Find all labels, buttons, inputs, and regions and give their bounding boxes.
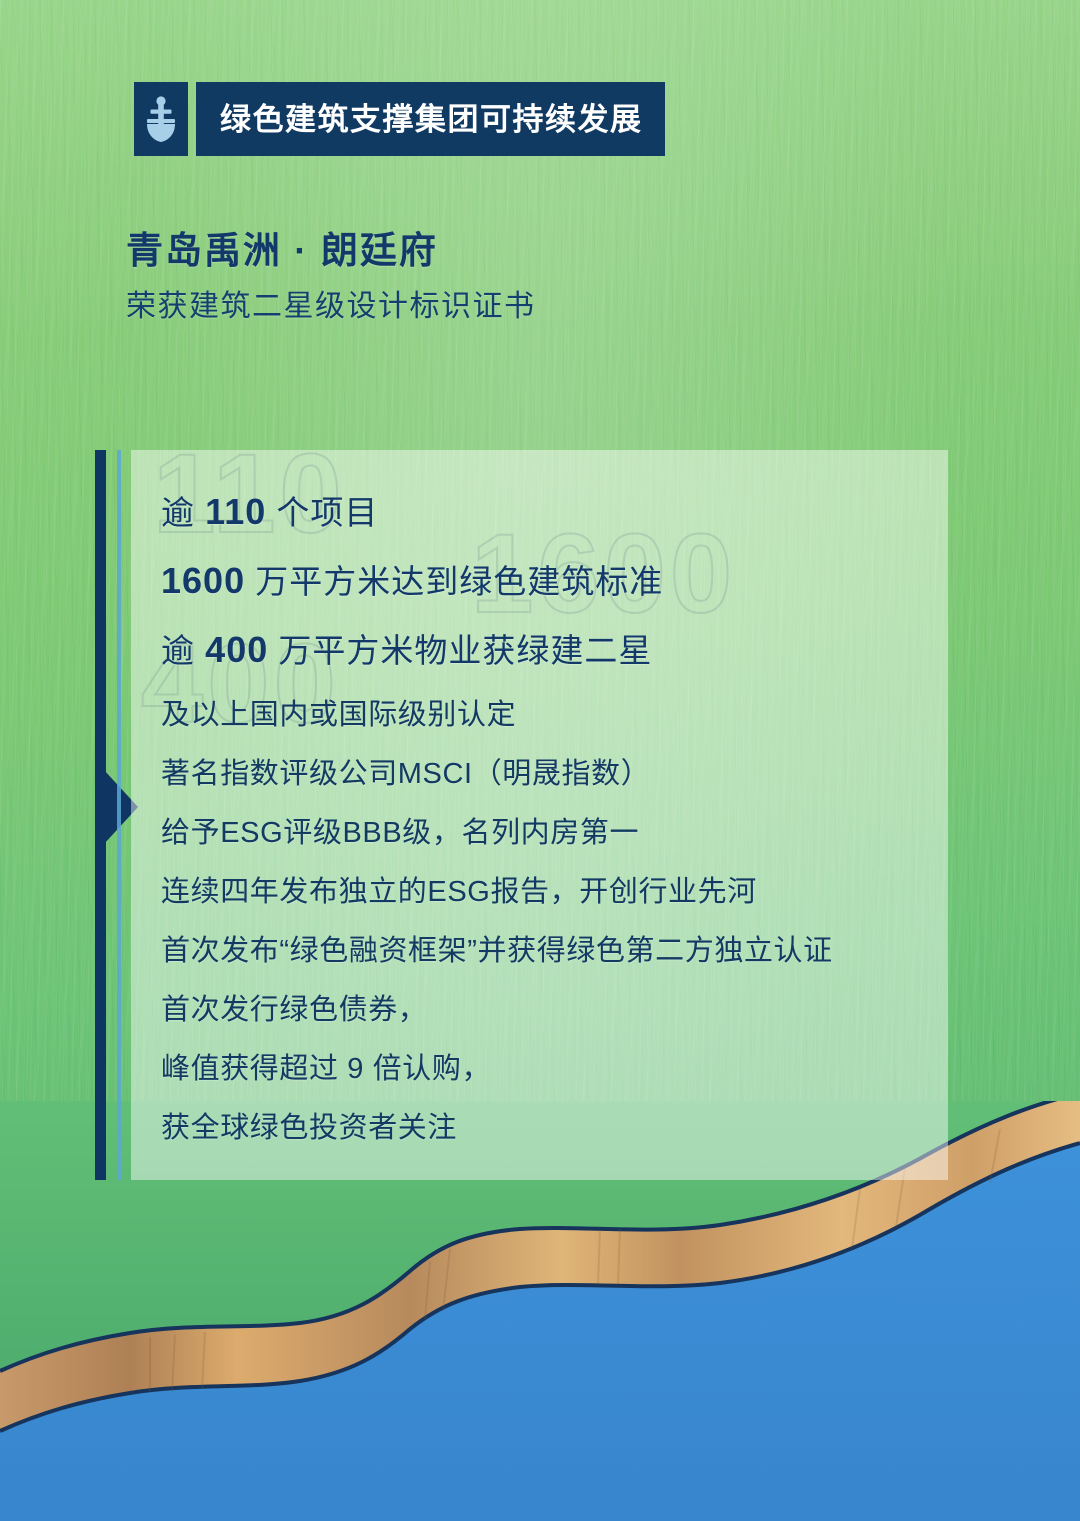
stat-prefix: 逾 bbox=[161, 494, 205, 531]
yuzhou-shield-anchor-icon bbox=[134, 82, 188, 156]
header-title-text: 绿色建筑支撑集团可持续发展 bbox=[220, 104, 643, 135]
stat-suffix: 个项目 bbox=[266, 494, 378, 531]
panel-content: 逾 110 个项目 1600 万平方米达到绿色建筑标准 逾 400 万平方米物业… bbox=[131, 450, 948, 1143]
content-panel: 110 1600 400 逾 110 个项目 1600 万平方米达到绿色建筑标准… bbox=[131, 450, 948, 1180]
body-line: 著名指数评级公司MSCI（明晟指数） bbox=[161, 760, 948, 789]
body-line: 及以上国内或国际级别认定 bbox=[161, 701, 948, 730]
left-rule-thin bbox=[117, 450, 121, 1180]
body-line: 给予ESG评级BBB级，名列内房第一 bbox=[161, 819, 948, 848]
body-line: 首次发布“绿色融资框架”并获得绿色第二方独立认证 bbox=[161, 937, 948, 966]
page-title: 青岛禹洲 · 朗廷府 bbox=[126, 228, 536, 274]
header: 绿色建筑支撑集团可持续发展 bbox=[134, 82, 665, 156]
stat-line: 逾 400 万平方米物业获绿建二星 bbox=[161, 632, 948, 668]
header-title-bar: 绿色建筑支撑集团可持续发展 bbox=[196, 82, 665, 156]
stat-number: 110 bbox=[205, 491, 266, 532]
stat-line: 逾 110 个项目 bbox=[161, 494, 948, 530]
stat-number: 1600 bbox=[161, 560, 245, 601]
stat-prefix: 逾 bbox=[161, 632, 205, 669]
stat-suffix: 万平方米物业获绿建二星 bbox=[268, 632, 652, 669]
title-block: 青岛禹洲 · 朗廷府 荣获建筑二星级设计标识证书 bbox=[126, 228, 536, 326]
page-subtitle: 荣获建筑二星级设计标识证书 bbox=[126, 288, 536, 326]
body-line: 获全球绿色投资者关注 bbox=[161, 1114, 948, 1143]
body-line: 连续四年发布独立的ESG报告，开创行业先河 bbox=[161, 878, 948, 907]
body-text-list: 及以上国内或国际级别认定 著名指数评级公司MSCI（明晟指数） 给予ESG评级B… bbox=[161, 701, 948, 1143]
poster-canvas: 绿色建筑支撑集团可持续发展 青岛禹洲 · 朗廷府 荣获建筑二星级设计标识证书 1… bbox=[0, 0, 1080, 1521]
body-line: 首次发行绿色债券， bbox=[161, 996, 948, 1025]
stat-line: 1600 万平方米达到绿色建筑标准 bbox=[161, 563, 948, 599]
body-line: 峰值获得超过 9 倍认购， bbox=[161, 1055, 948, 1084]
stat-number: 400 bbox=[205, 629, 268, 670]
stat-suffix: 万平方米达到绿色建筑标准 bbox=[245, 563, 663, 600]
